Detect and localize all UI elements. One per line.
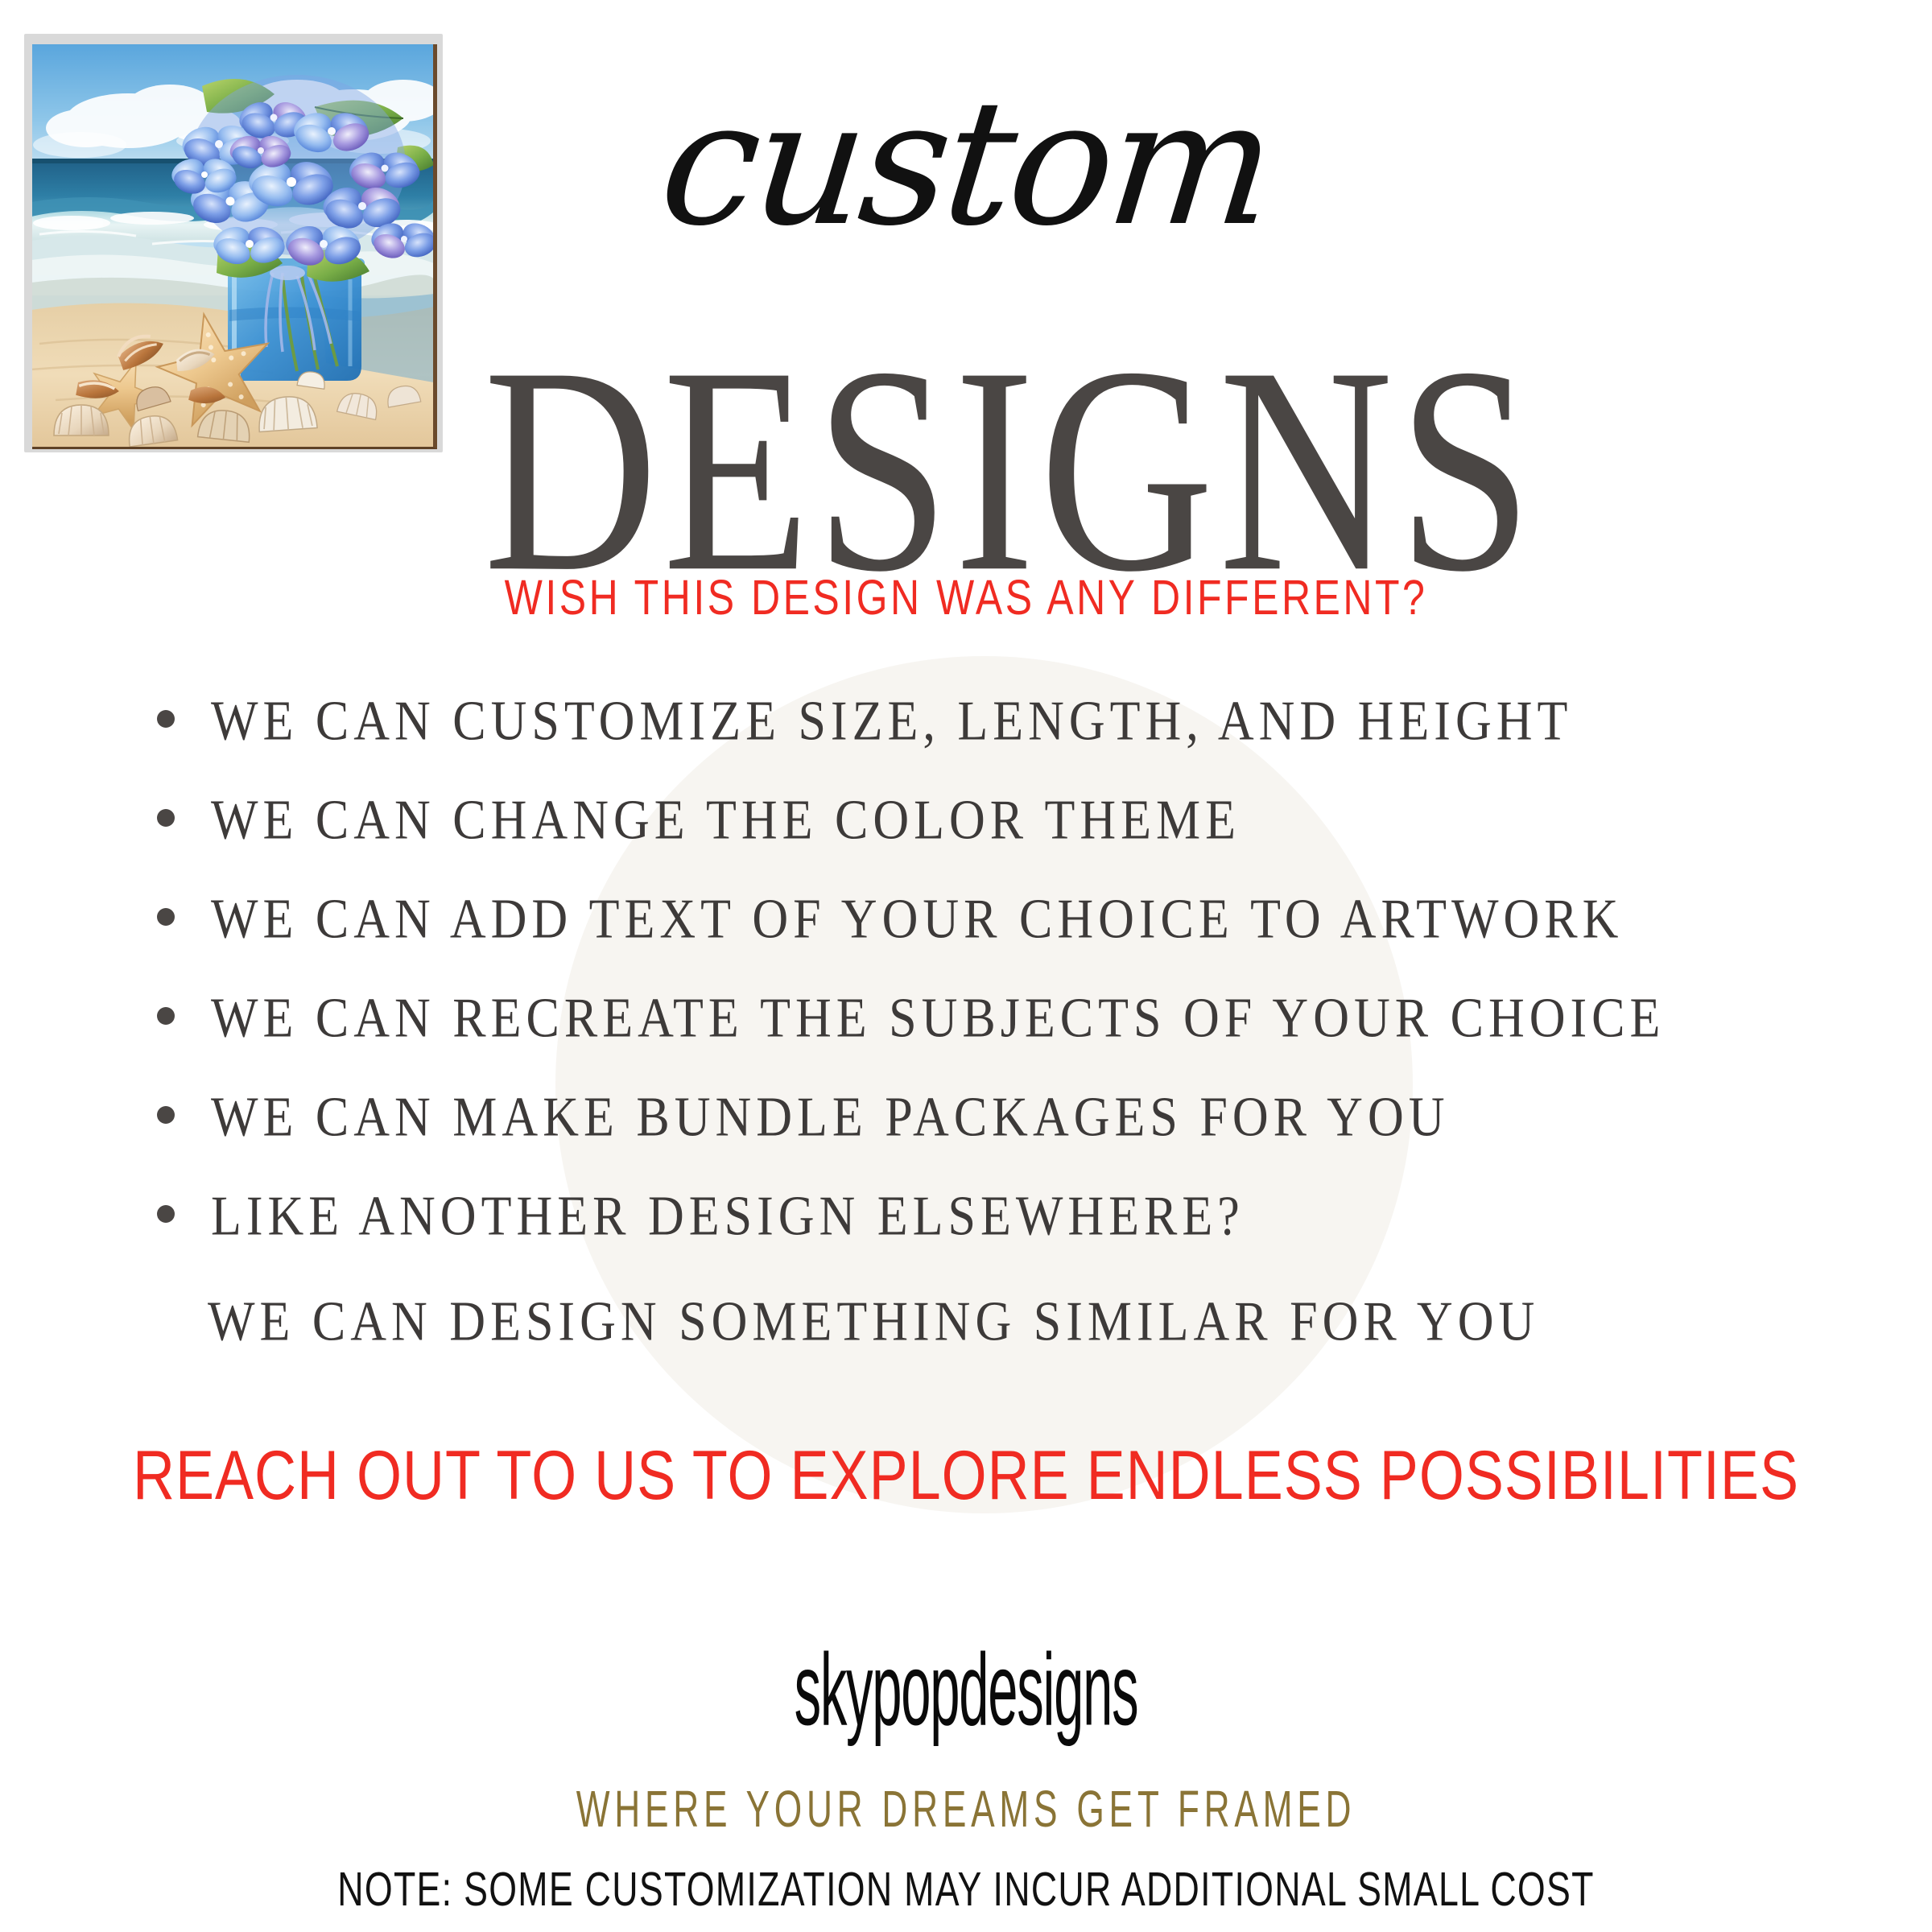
brand-name: skypopdesigns: [367, 1638, 1565, 1740]
bullet-dot-icon: [157, 1106, 175, 1124]
bullet-dot-icon: [157, 1007, 175, 1025]
list-item: WE CAN CHANGE THE COLOR THEME: [157, 795, 1864, 894]
feature-label: WE CAN ADD TEXT OF YOUR CHOICE TO ARTWOR…: [211, 891, 1623, 947]
list-item: WE CAN ADD TEXT OF YOUR CHOICE TO ARTWOR…: [157, 894, 1864, 993]
call-to-action-text: REACH OUT TO US TO EXPLORE ENDLESS POSSI…: [0, 1441, 1932, 1510]
feature-label: WE CAN CHANGE THE COLOR THEME: [211, 792, 1241, 848]
brand-tagline: WHERE YOUR DREAMS GET FRAMED: [174, 1784, 1758, 1835]
feature-list: WE CAN CUSTOMIZE SIZE, LENGTH, AND HEIGH…: [157, 696, 1864, 1290]
list-item: WE CAN CUSTOMIZE SIZE, LENGTH, AND HEIGH…: [157, 696, 1864, 795]
feature-continuation-label: WE CAN DESIGN SOMETHING SIMILAR FOR YOU: [208, 1294, 1539, 1349]
footer-note: NOTE: SOME CUSTOMIZATION MAY INCUR ADDIT…: [135, 1866, 1797, 1913]
script-headline: custom: [0, 76, 1932, 250]
subheading-question: WISH THIS DESIGN WAS ANY DIFFERENT?: [0, 573, 1932, 622]
feature-label: WE CAN MAKE BUNDLE PACKAGES FOR YOU: [211, 1089, 1450, 1145]
list-item: LIKE ANOTHER DESIGN ELSEWHERE?: [157, 1191, 1864, 1290]
feature-label: LIKE ANOTHER DESIGN ELSEWHERE?: [211, 1188, 1245, 1244]
bullet-dot-icon: [157, 809, 175, 827]
bullet-dot-icon: [157, 710, 175, 728]
bullet-dot-icon: [157, 1205, 175, 1223]
bullet-dot-icon: [157, 908, 175, 926]
list-item: WE CAN RECREATE THE SUBJECTS OF YOUR CHO…: [157, 993, 1864, 1092]
feature-label: WE CAN RECREATE THE SUBJECTS OF YOUR CHO…: [211, 990, 1665, 1046]
list-item: WE CAN MAKE BUNDLE PACKAGES FOR YOU: [157, 1092, 1864, 1191]
feature-label: WE CAN CUSTOMIZE SIZE, LENGTH, AND HEIGH…: [211, 693, 1572, 749]
